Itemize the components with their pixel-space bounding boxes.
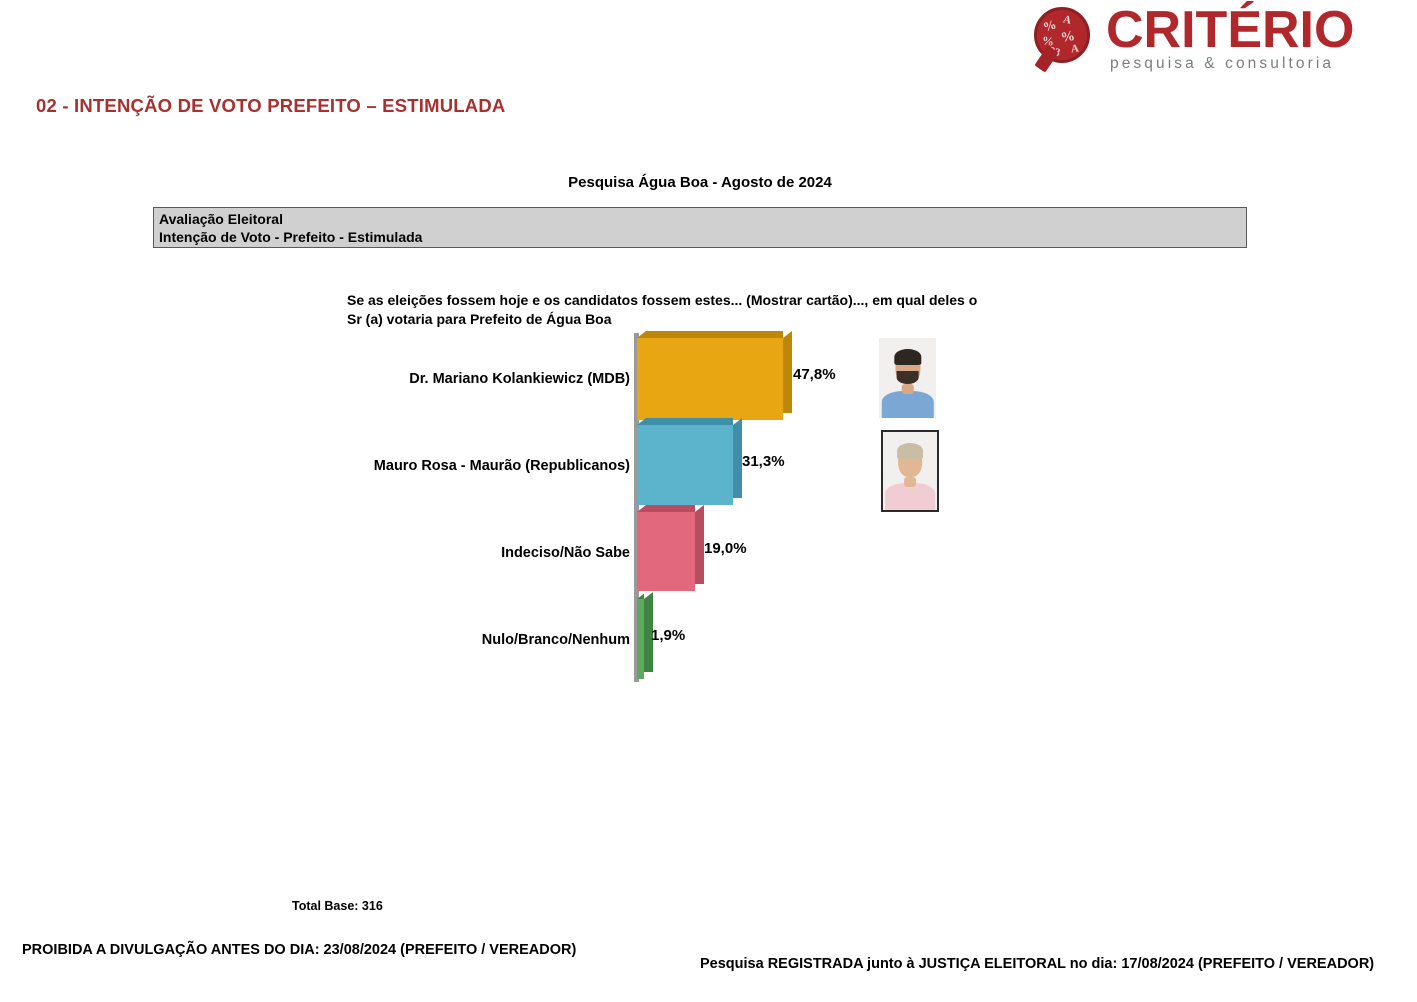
vote-intention-bar-chart: Dr. Mariano Kolankiewicz (MDB)47,8%Mauro… [0, 0, 1417, 1002]
bar-4 [637, 599, 644, 679]
photo-beard [896, 371, 919, 385]
bar-face [637, 338, 783, 420]
brand-logo: % A % % 03 A CRITÉRIO pesquisa & consult… [1020, 2, 1400, 82]
bar-value-label: 31,3% [742, 453, 785, 470]
bar-face [637, 599, 644, 679]
bar-face [637, 425, 733, 505]
page-title: 02 - INTENÇÃO DE VOTO PREFEITO – ESTIMUL… [36, 95, 505, 117]
bar-side-face [733, 418, 742, 498]
photo-background [883, 432, 937, 510]
candidate-photo [879, 338, 936, 418]
bar-face [637, 512, 695, 591]
brand-tagline: pesquisa & consultoria [1110, 55, 1334, 73]
footer-embargo-note: PROIBIDA A DIVULGAÇÃO ANTES DO DIA: 23/0… [22, 942, 576, 958]
bar-category-label: Mauro Rosa - Maurão (Republicanos) [374, 458, 630, 474]
report-header-line-2: Intenção de Voto - Prefeito - Estimulada [159, 229, 422, 245]
photo-torso [881, 391, 933, 418]
bar-3 [637, 512, 695, 591]
bar-category-label: Nulo/Branco/Nenhum [482, 632, 630, 648]
bar-value-label: 1,9% [651, 627, 685, 644]
photo-head [898, 444, 922, 477]
photo-hair [894, 349, 921, 365]
photo-head [895, 351, 920, 385]
bar-top-face [637, 505, 695, 512]
survey-question: Se as eleições fossem hoje e os candidat… [347, 291, 987, 329]
bar-side-face [783, 331, 792, 413]
bar-category-label: Indeciso/Não Sabe [501, 545, 630, 561]
magnifier-percent-icon: % A % % 03 A [1034, 7, 1100, 73]
total-base-label: Total Base: 316 [292, 899, 383, 913]
bar-top-face [637, 331, 783, 338]
brand-name: CRITÉRIO [1106, 0, 1354, 60]
bar-side-face [644, 592, 653, 672]
chart-axis-line [634, 333, 639, 682]
bar-1 [637, 338, 783, 420]
bar-top-face [637, 418, 733, 425]
report-header-box: Avaliação Eleitoral Intenção de Voto - P… [153, 207, 1247, 248]
report-title: Pesquisa Água Boa - Agosto de 2024 [153, 174, 1247, 191]
footer-registration-note: Pesquisa REGISTRADA junto à JUSTIÇA ELEI… [700, 956, 1374, 972]
bar-value-label: 19,0% [704, 540, 747, 557]
bar-top-face [637, 592, 644, 599]
photo-neck [904, 477, 916, 486]
photo-hair [897, 443, 923, 459]
bar-2 [637, 425, 733, 505]
photo-neck [901, 384, 914, 394]
report-header-line-1: Avaliação Eleitoral [159, 211, 283, 227]
photo-torso [885, 483, 935, 510]
bar-side-face [695, 505, 704, 584]
bar-value-label: 47,8% [793, 366, 836, 383]
candidate-photo [881, 430, 939, 512]
bar-category-label: Dr. Mariano Kolankiewicz (MDB) [409, 371, 630, 387]
photo-background [879, 338, 936, 418]
